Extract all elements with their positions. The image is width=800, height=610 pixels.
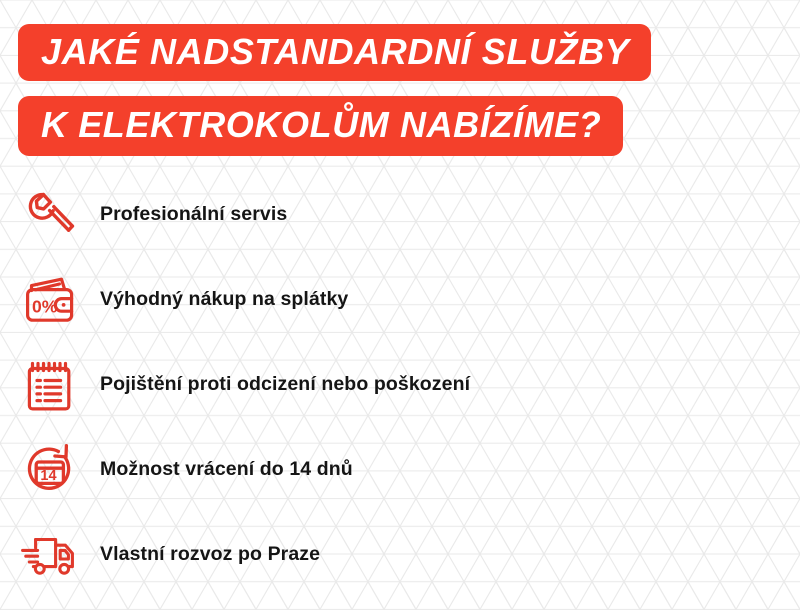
return-14-days-icon: 14: [0, 427, 100, 512]
feature-item: 0% Výhodný nákup na splátky: [0, 257, 800, 342]
headline-text-line-2: K ELEKTROKOLŮM NABÍZÍME?: [41, 104, 601, 146]
delivery-truck-icon: [0, 512, 100, 597]
wrench-icon: [0, 172, 100, 257]
headline-text-line-1: JAKÉ NADSTANDARDNÍ SLUŽBY: [41, 31, 629, 73]
wallet-zero-percent-icon: 0%: [0, 257, 100, 342]
wallet-icon-text: 0%: [32, 296, 58, 316]
return-icon-text: 14: [40, 468, 56, 484]
feature-label: Profesionální servis: [100, 203, 287, 226]
feature-item: Profesionální servis: [0, 172, 800, 257]
headline-banner-line-2: K ELEKTROKOLŮM NABÍZÍME?: [18, 96, 623, 156]
feature-item: Pojištění proti odcizení nebo poškození: [0, 342, 800, 427]
feature-item: Vlastní rozvoz po Praze: [0, 512, 800, 597]
feature-label: Výhodný nákup na splátky: [100, 288, 348, 311]
promo-poster: JAKÉ NADSTANDARDNÍ SLUŽBY K ELEKTROKOLŮM…: [0, 0, 800, 610]
headline-banner-line-1: JAKÉ NADSTANDARDNÍ SLUŽBY: [18, 24, 651, 81]
feature-label: Vlastní rozvoz po Praze: [100, 543, 320, 566]
feature-label: Možnost vrácení do 14 dnů: [100, 458, 353, 481]
feature-list: Profesionální servis 0% Výhodný nákup na…: [0, 172, 800, 597]
feature-label: Pojištění proti odcizení nebo poškození: [100, 373, 470, 396]
notepad-list-icon: [0, 342, 100, 427]
feature-item: 14 Možnost vrácení do 14 dnů: [0, 427, 800, 512]
